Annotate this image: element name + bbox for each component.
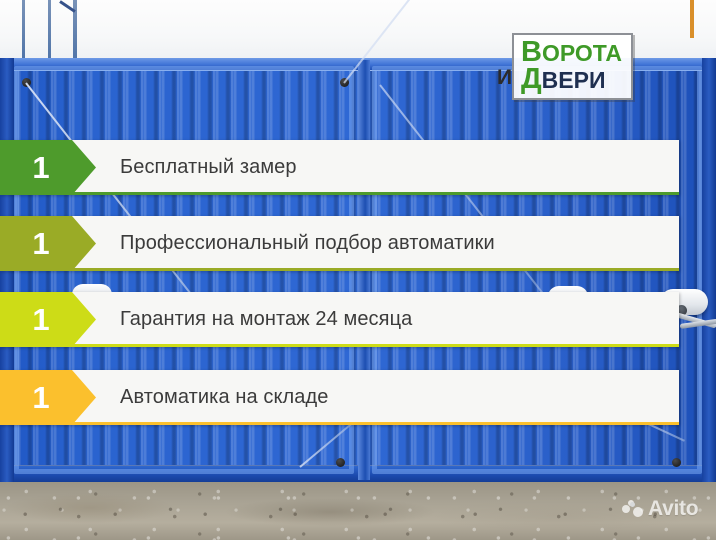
feature-number-badge: 1 (0, 370, 96, 425)
feature-row[interactable]: 1 Бесплатный замер (0, 140, 679, 195)
feature-row[interactable]: 1 Автоматика на складе (0, 370, 679, 425)
feature-accent-bar (0, 344, 679, 347)
feature-label: Бесплатный замер (96, 140, 297, 195)
feature-number: 1 (32, 152, 49, 183)
avito-watermark: Avito (622, 498, 698, 519)
feature-number: 1 (32, 304, 49, 335)
feature-list: 1 Бесплатный замер 1 Профессиональный по… (0, 0, 716, 540)
feature-label: Автоматика на складе (96, 370, 329, 425)
feature-number: 1 (32, 228, 49, 259)
advertisement-image: И ВОРОТА ДВЕРИ 1 Бесплатный замер 1 Проф… (0, 0, 716, 540)
avito-wordmark: Avito (648, 498, 698, 519)
feature-accent-bar (0, 192, 679, 195)
feature-row[interactable]: 1 Гарантия на монтаж 24 месяца (0, 292, 679, 347)
feature-row[interactable]: 1 Профессиональный подбор автоматики (0, 216, 679, 271)
feature-number: 1 (32, 382, 49, 413)
feature-number-badge: 1 (0, 140, 96, 195)
feature-number-badge: 1 (0, 216, 96, 271)
feature-number-badge: 1 (0, 292, 96, 347)
feature-accent-bar (0, 422, 679, 425)
avito-logo-icon (622, 500, 644, 517)
feature-label: Профессиональный подбор автоматики (96, 216, 495, 271)
feature-label: Гарантия на монтаж 24 месяца (96, 292, 412, 347)
feature-accent-bar (0, 268, 679, 271)
